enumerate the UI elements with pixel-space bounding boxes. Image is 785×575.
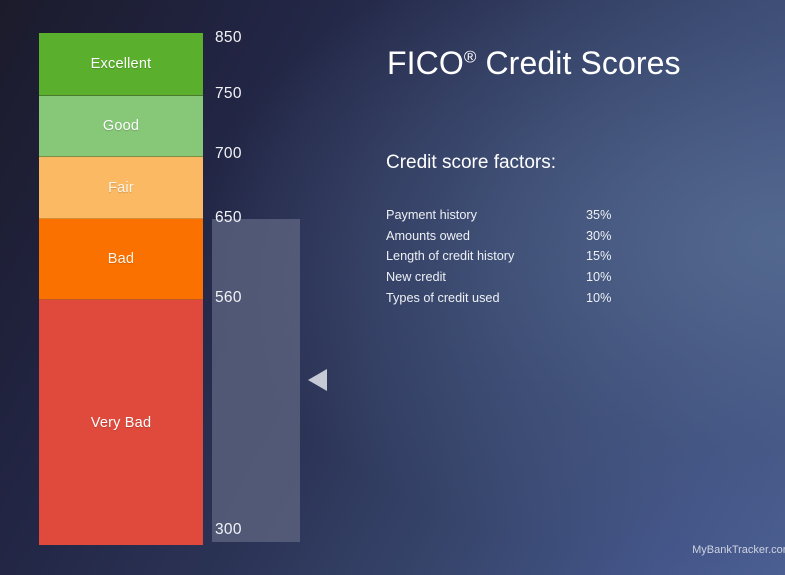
axis-tick-700: 700: [215, 145, 242, 163]
axis-tick-850: 850: [215, 29, 242, 47]
factor-percent: 35%: [554, 205, 646, 226]
axis-tick-560: 560: [215, 289, 242, 307]
table-row: Length of credit history 15%: [386, 246, 646, 267]
page-title: FICO® Credit Scores: [387, 45, 681, 82]
fico-credit-scores-infographic: Excellent Good Fair Bad Very Bad 850 750…: [0, 0, 785, 575]
score-segment-fair: Fair: [39, 157, 203, 219]
score-segment-label: Bad: [108, 251, 134, 267]
factor-percent: 10%: [554, 267, 646, 288]
left-arrow-pointer-icon: [308, 369, 327, 391]
axis-tick-650: 650: [215, 209, 242, 227]
score-segment-label: Very Bad: [91, 415, 151, 431]
factor-percent: 10%: [554, 287, 646, 308]
registered-trademark-icon: ®: [464, 47, 477, 66]
score-segment-very-bad: Very Bad: [39, 300, 203, 545]
factors-heading: Credit score factors:: [386, 152, 556, 174]
table-row: Amounts owed 30%: [386, 226, 646, 247]
credit-score-bar-stack: Excellent Good Fair Bad Very Bad: [39, 33, 203, 545]
table-row: Types of credit used 10%: [386, 287, 646, 308]
score-segment-excellent: Excellent: [39, 33, 203, 96]
factor-label: Length of credit history: [386, 246, 554, 267]
title-suffix: Credit Scores: [476, 45, 680, 81]
title-brand: FICO: [387, 45, 464, 81]
score-segment-good: Good: [39, 96, 203, 157]
axis-tick-300: 300: [215, 521, 242, 539]
factor-percent: 15%: [554, 246, 646, 267]
factor-label: New credit: [386, 267, 554, 288]
factor-label: Payment history: [386, 205, 554, 226]
factor-percent: 30%: [554, 226, 646, 247]
watermark-attribution: MyBankTracker.com: [692, 544, 785, 556]
score-segment-bad: Bad: [39, 219, 203, 300]
table-row: New credit 10%: [386, 267, 646, 288]
axis-tick-750: 750: [215, 85, 242, 103]
score-segment-label: Fair: [108, 180, 134, 196]
factor-label: Types of credit used: [386, 287, 554, 308]
score-segment-label: Good: [103, 118, 139, 134]
score-segment-label: Excellent: [91, 56, 152, 72]
factor-label: Amounts owed: [386, 226, 554, 247]
table-row: Payment history 35%: [386, 205, 646, 226]
score-range-highlight-panel: [212, 219, 300, 542]
credit-score-factors-table: Payment history 35% Amounts owed 30% Len…: [386, 205, 646, 308]
